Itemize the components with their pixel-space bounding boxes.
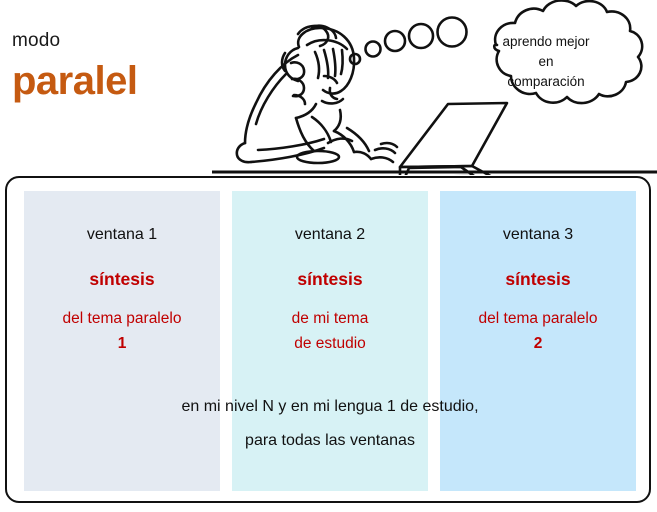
window-1-subtitle-text: del tema paralelo — [63, 310, 182, 327]
window-3-synthesis: síntesis — [440, 268, 636, 290]
window-3-subtitle-text: del tema paralelo — [479, 310, 598, 327]
page-title: paralel — [12, 59, 222, 103]
window-2-subtitle-text: de mi tema — [292, 310, 369, 327]
windows-columns: ventana 1 síntesis del tema paralelo 1 v… — [24, 191, 636, 491]
window-1-subtitle: del tema paralelo 1 — [24, 306, 220, 356]
title-block: modo paralel — [12, 30, 222, 103]
window-3-title: ventana 3 — [440, 225, 636, 245]
window-1-title: ventana 1 — [24, 225, 220, 245]
window-1-synthesis: síntesis — [24, 268, 220, 290]
thought-bubble-line-2: en — [466, 52, 626, 72]
window-2-title: ventana 2 — [232, 225, 428, 245]
thought-bubble-line-1: aprendo mejor — [466, 32, 626, 52]
window-3-subtitle: del tema paralelo 2 — [440, 306, 636, 356]
thought-bubble-line-3: comparación — [466, 72, 626, 92]
window-column-2[interactable]: ventana 2 síntesis de mi tema de estudio — [232, 191, 428, 491]
thought-bubble-text: aprendo mejor en comparación — [466, 32, 626, 92]
window-2-synthesis: síntesis — [232, 268, 428, 290]
window-column-1[interactable]: ventana 1 síntesis del tema paralelo 1 — [24, 191, 220, 491]
parallel-mode-panel: ventana 1 síntesis del tema paralelo 1 v… — [5, 176, 651, 503]
window-1-number: 1 — [24, 331, 220, 356]
window-column-3[interactable]: ventana 3 síntesis del tema paralelo 2 — [440, 191, 636, 491]
window-3-number: 2 — [440, 331, 636, 356]
header: modo paralel — [0, 0, 657, 175]
title-kicker: modo — [12, 30, 222, 52]
window-2-number: de estudio — [232, 331, 428, 356]
window-2-subtitle: de mi tema de estudio — [232, 306, 428, 356]
